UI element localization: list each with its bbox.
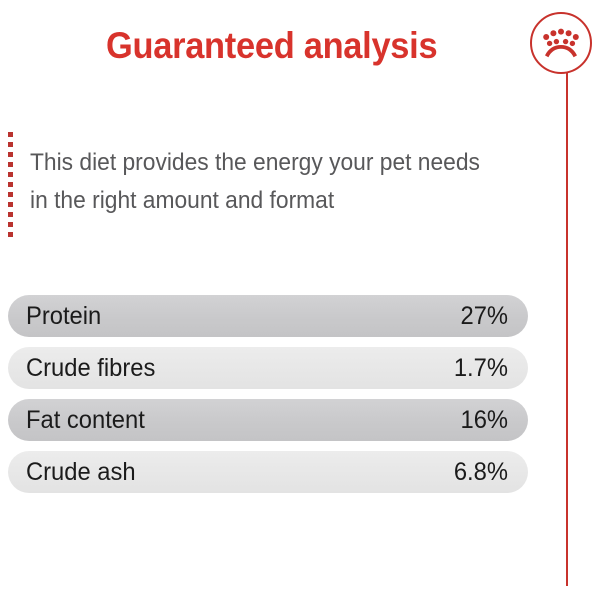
nutrient-value: 1.7% bbox=[454, 356, 508, 381]
table-row: Crude fibres 1.7% bbox=[8, 347, 528, 389]
brand-logo bbox=[530, 12, 596, 78]
nutrient-label: Crude fibres bbox=[26, 356, 155, 381]
page-title: Guaranteed analysis bbox=[106, 24, 441, 68]
nutrient-label: Protein bbox=[26, 304, 101, 329]
vertical-accent-rule bbox=[566, 72, 568, 586]
royal-crown-icon bbox=[542, 26, 580, 60]
table-row: Fat content 16% bbox=[8, 399, 528, 441]
nutrient-label: Fat content bbox=[26, 408, 145, 433]
guaranteed-analysis-card: Guaranteed analysis This diet provides bbox=[0, 0, 600, 600]
table-row: Crude ash 6.8% bbox=[8, 451, 528, 493]
nutrient-value: 27% bbox=[460, 304, 508, 329]
nutrient-label: Crude ash bbox=[26, 460, 136, 485]
intro-paragraph: This diet provides the energy your pet n… bbox=[30, 144, 477, 220]
nutrient-value: 6.8% bbox=[454, 460, 508, 485]
dotted-accent-rule bbox=[8, 132, 13, 238]
table-row: Protein 27% bbox=[8, 295, 528, 337]
analysis-table: Protein 27% Crude fibres 1.7% Fat conten… bbox=[8, 295, 528, 503]
intro-line-1: This diet provides the energy your pet n… bbox=[30, 144, 477, 182]
intro-line-2: in the right amount and format bbox=[30, 182, 477, 220]
nutrient-value: 16% bbox=[460, 408, 508, 433]
